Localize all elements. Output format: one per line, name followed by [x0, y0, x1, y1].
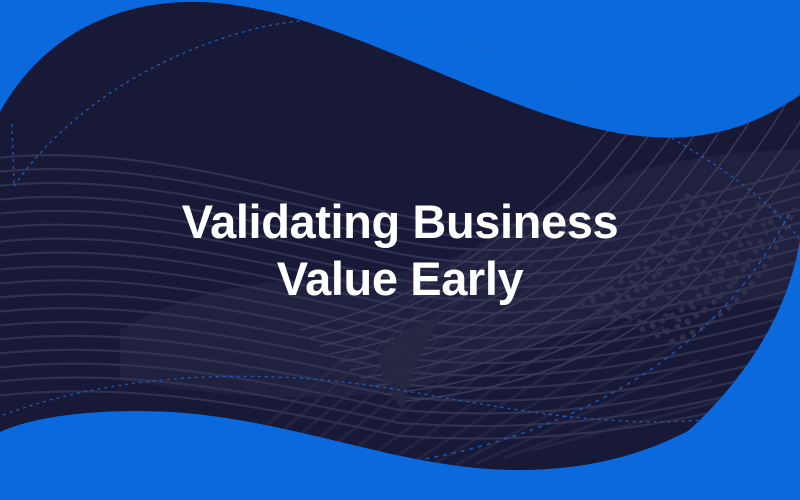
slide-canvas: Validating Business Value Early: [0, 0, 800, 500]
background-artwork: [0, 0, 800, 500]
